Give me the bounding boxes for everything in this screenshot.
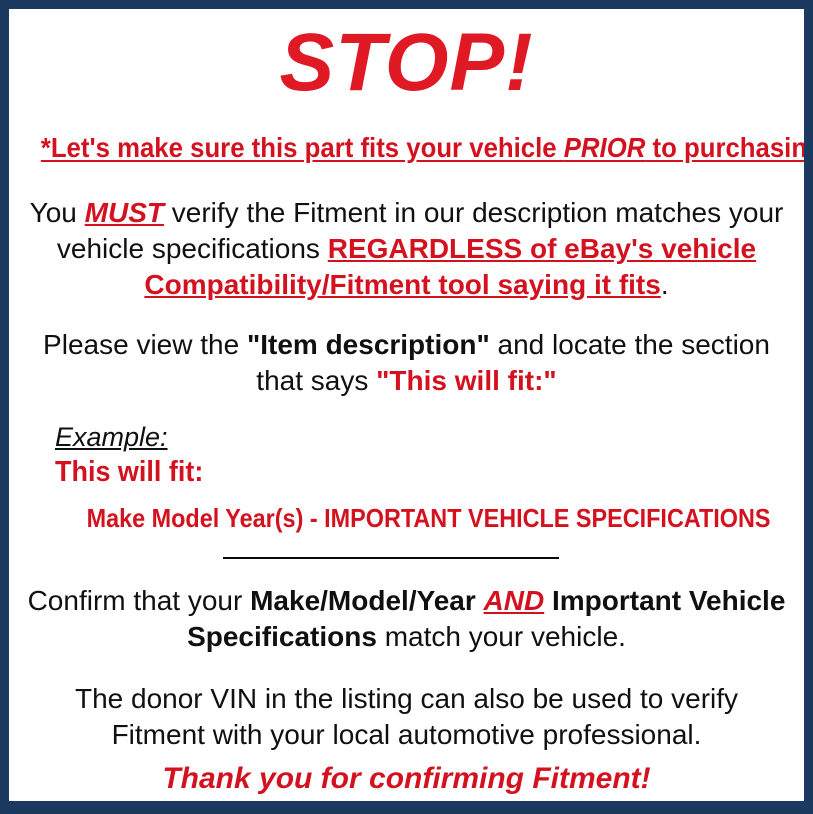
item-description-label: "Item description" (247, 329, 490, 360)
must-emphasis: MUST (85, 197, 164, 228)
confirm-space-1 (476, 585, 484, 616)
and-emphasis: AND (484, 585, 545, 616)
this-will-fit-quote: "This will fit:" (376, 365, 557, 396)
confirm-space-2 (544, 585, 552, 616)
item-description-paragraph: Please view the "Item description" and l… (27, 327, 786, 399)
subtitle-text-after: to purchasing* (645, 132, 813, 163)
fitment-notice-card: STOP! *Let's make sure this part fits yo… (0, 0, 813, 814)
example-fit-heading: This will fit: (55, 455, 203, 489)
notice-body: STOP! *Let's make sure this part fits yo… (9, 9, 804, 801)
confirm-part-1: Confirm that your (28, 585, 251, 616)
section-divider (223, 557, 559, 559)
must-part-3: . (661, 269, 669, 300)
view-part-1: Please view the (43, 329, 247, 360)
example-label: Example: (55, 421, 168, 453)
subtitle-text-before: *Let's make sure this part fits your veh… (41, 132, 564, 163)
thank-you-message: Thank you for confirming Fitment! (27, 761, 786, 797)
make-model-year-label: Make/Model/Year (250, 585, 476, 616)
confirm-paragraph: Confirm that your Make/Model/Year AND Im… (27, 583, 786, 655)
donor-vin-paragraph: The donor VIN in the listing can also be… (27, 681, 786, 753)
must-verify-paragraph: You MUST verify the Fitment in our descr… (27, 195, 786, 303)
must-part-1: You (30, 197, 85, 228)
stop-headline: STOP! (9, 15, 804, 111)
confirm-part-4: match your vehicle. (377, 621, 626, 652)
example-spec-line: Make Model Year(s) - IMPORTANT VEHICLE S… (87, 502, 728, 534)
subtitle-banner: *Let's make sure this part fits your veh… (41, 131, 772, 165)
subtitle-text-prior: PRIOR (564, 132, 646, 163)
